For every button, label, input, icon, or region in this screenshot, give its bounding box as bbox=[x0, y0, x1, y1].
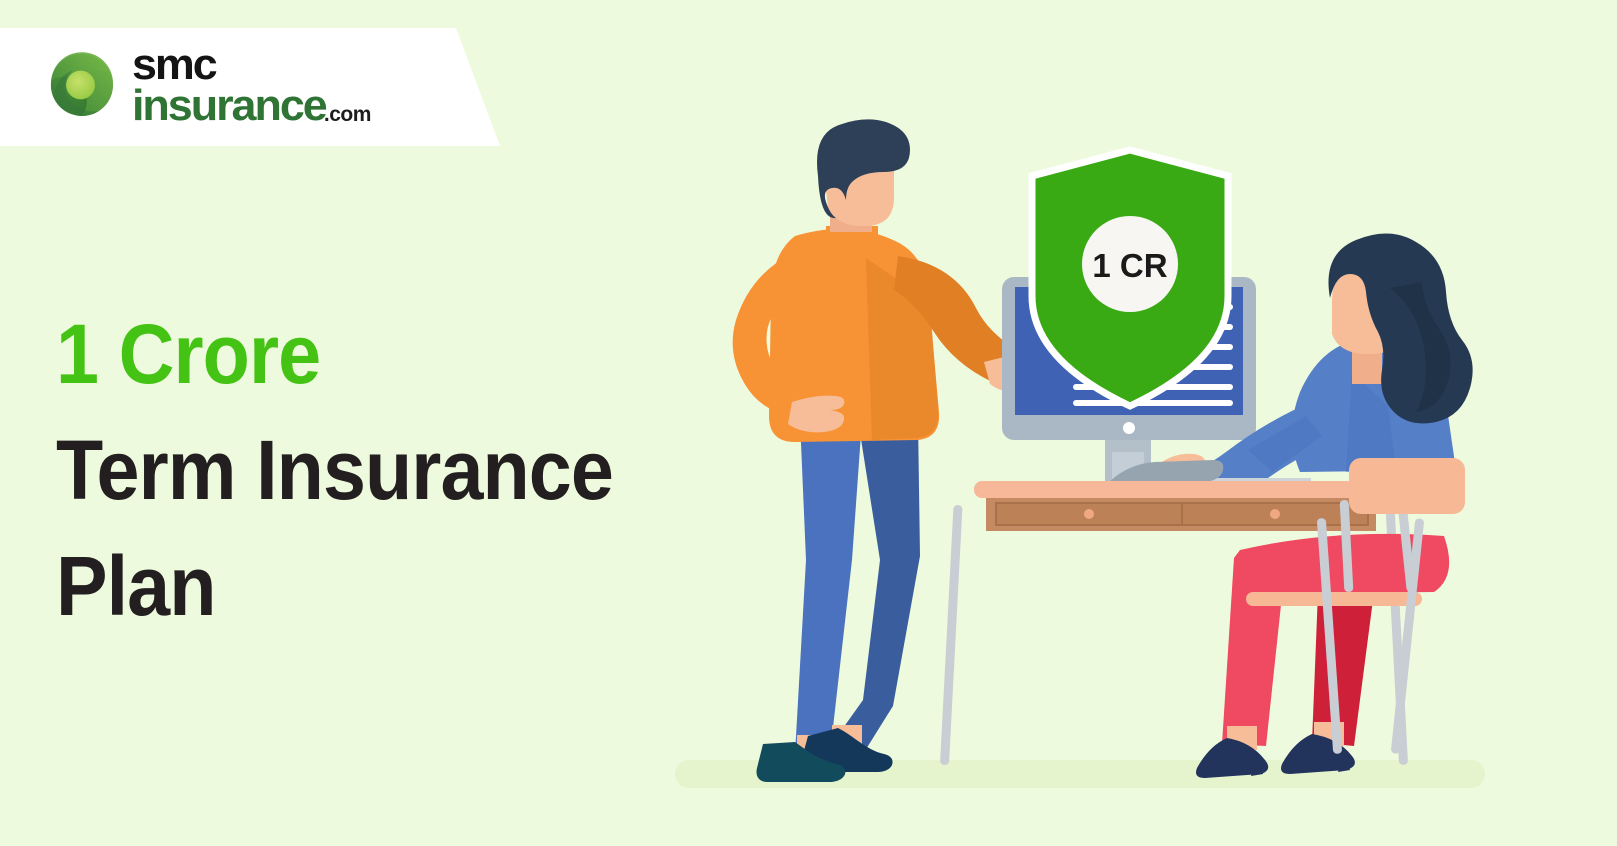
desk-top bbox=[974, 481, 1378, 498]
shield-badge-text: 1 CR bbox=[1092, 247, 1167, 284]
desk-knob-left bbox=[1084, 509, 1094, 519]
desk-knob-right bbox=[1270, 509, 1280, 519]
monitor-camera-dot bbox=[1123, 422, 1135, 434]
chair-backrest bbox=[1349, 458, 1465, 514]
hero-illustration: 1 CR bbox=[0, 0, 1617, 846]
woman-thigh-front bbox=[1222, 550, 1286, 746]
man-hand-on-hip bbox=[788, 396, 844, 433]
banner-root: smc insurance .com 1 Crore Term Insuranc… bbox=[0, 0, 1617, 846]
man-front-leg bbox=[795, 420, 862, 754]
desk-leg-left bbox=[940, 505, 963, 765]
